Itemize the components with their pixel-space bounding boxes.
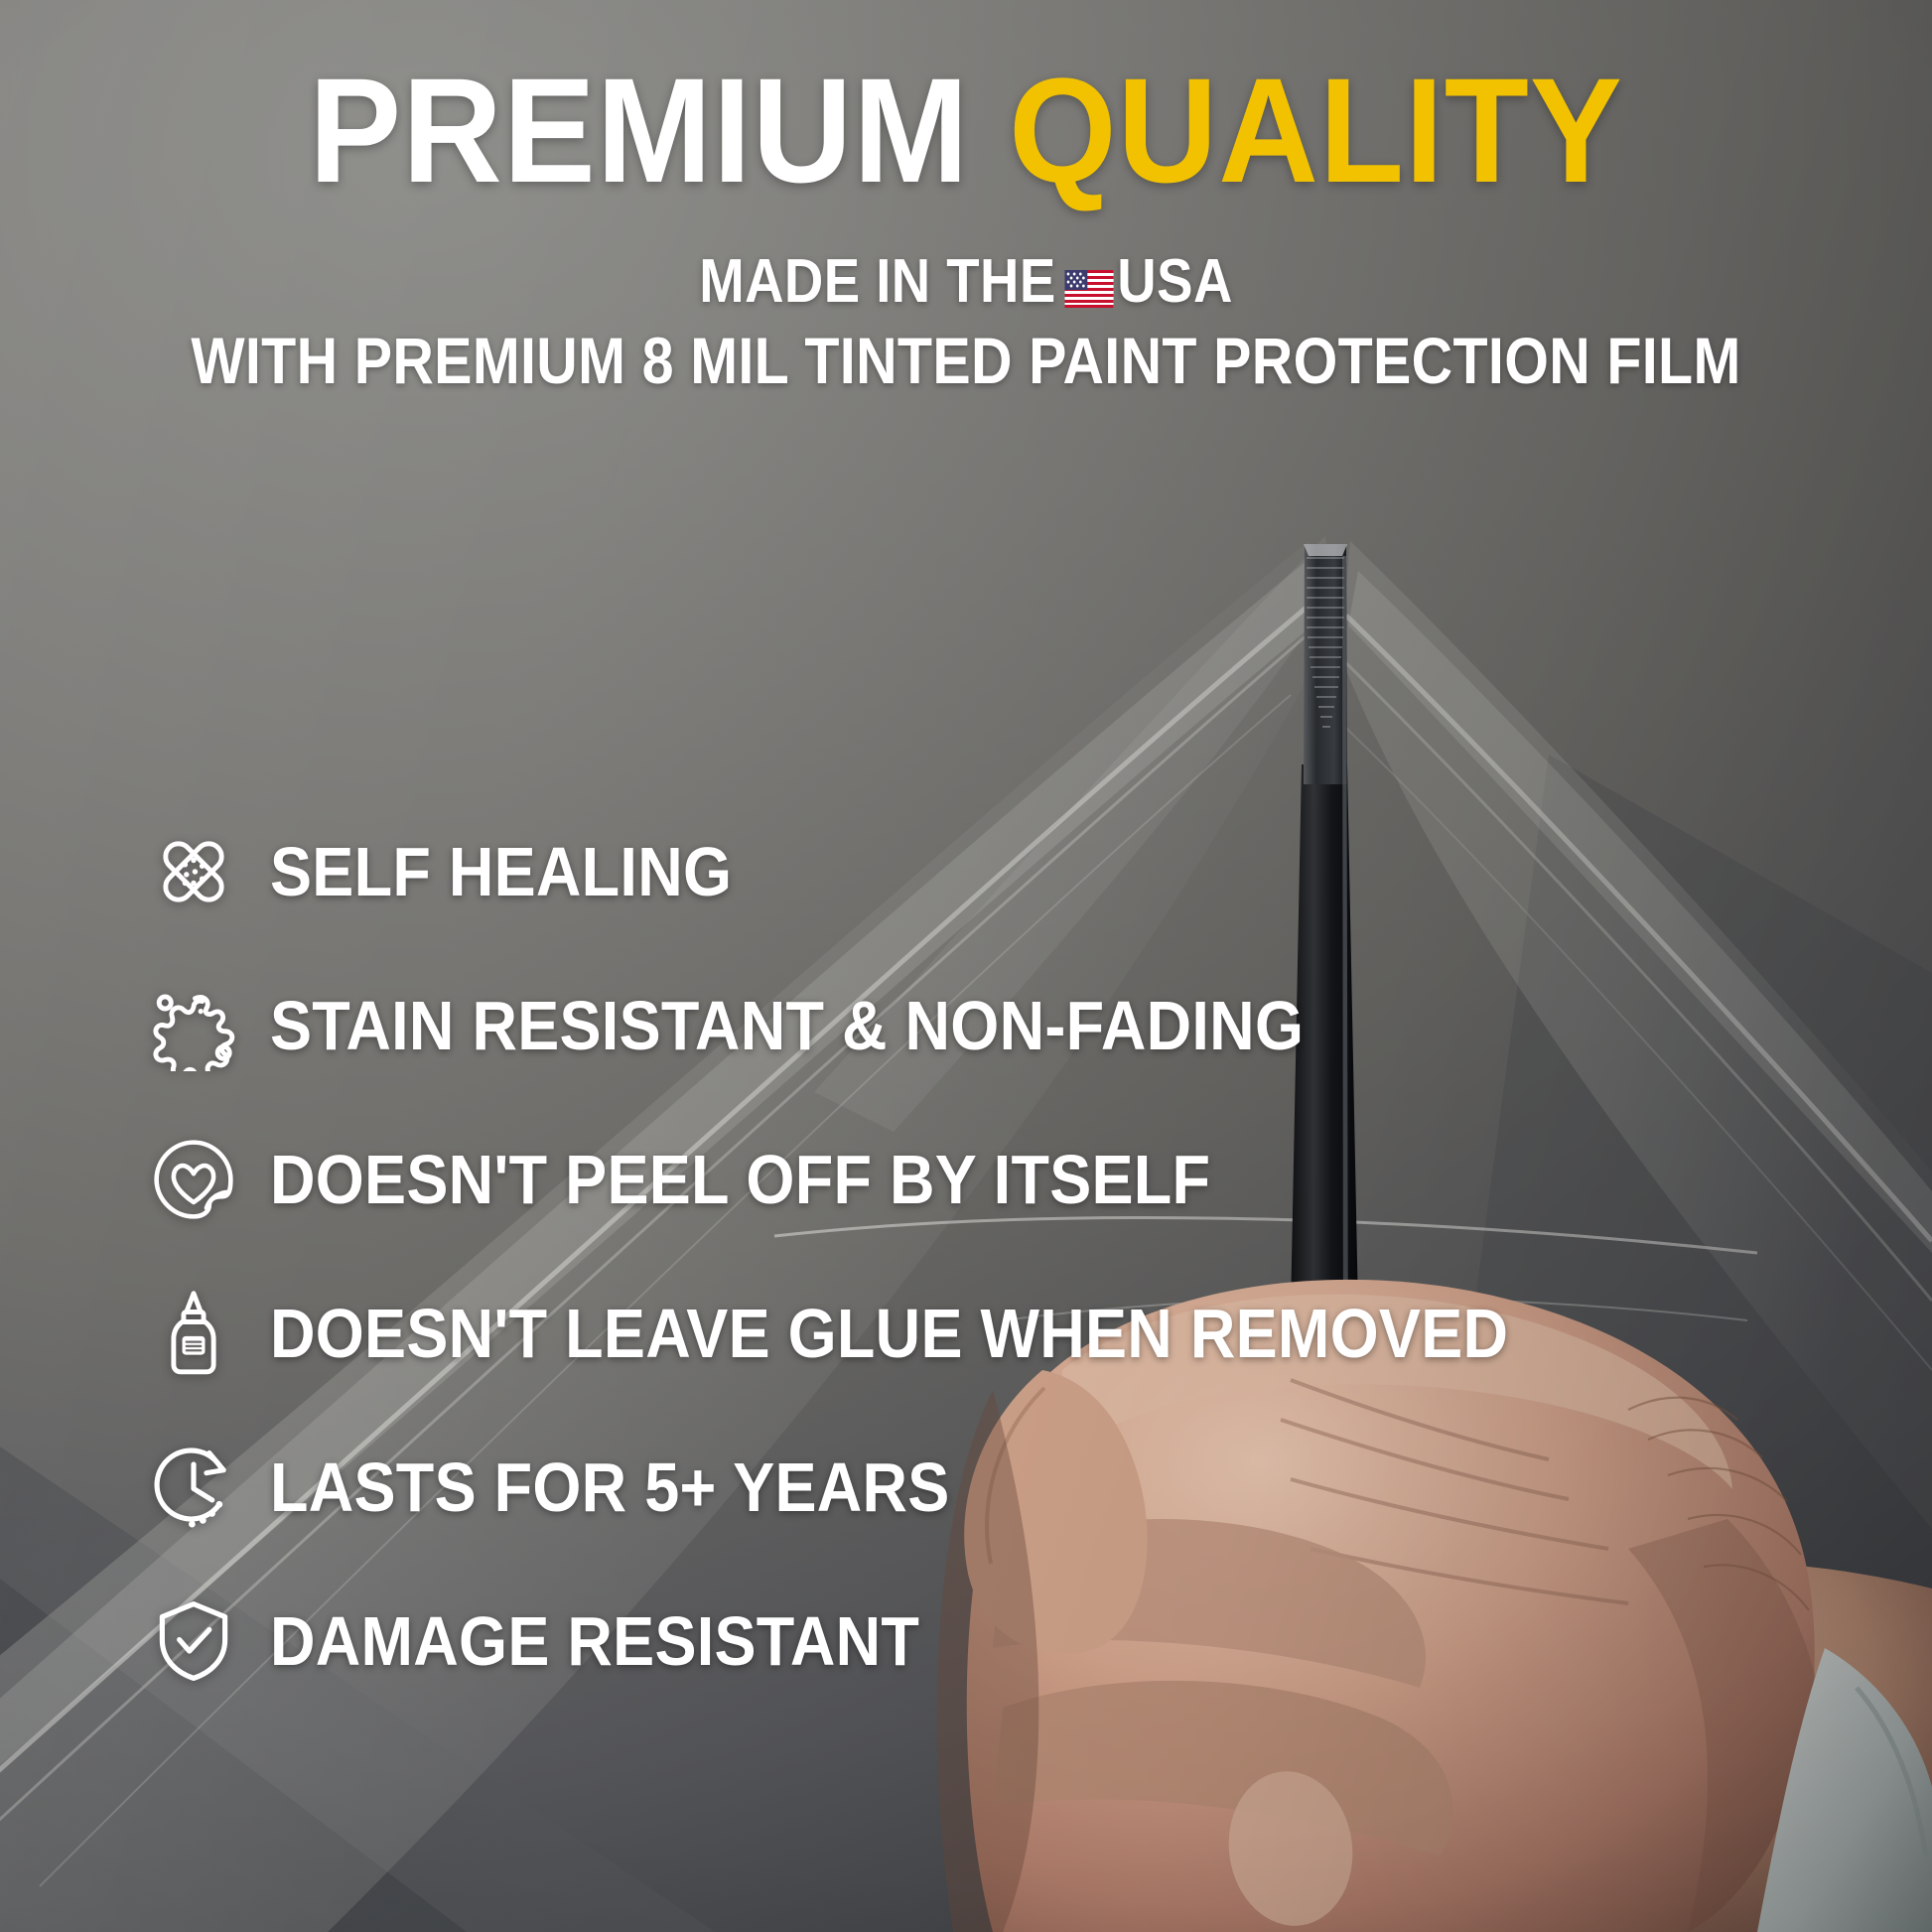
subtitle-film-spec: WITH PREMIUM 8 MIL TINTED PAINT PROTECTI… xyxy=(125,323,1806,398)
promo-graphic: PREMIUM QUALITY MADE IN THE xyxy=(0,0,1932,1932)
feature-label: DAMAGE RESISTANT xyxy=(270,1601,919,1681)
headline-word-premium: PREMIUM xyxy=(309,47,969,213)
us-flag-icon xyxy=(1064,252,1113,323)
feature-list: SELF HEALING STAIN RESISTANT & NON-FADIN… xyxy=(139,794,1767,1718)
feature-label: SELF HEALING xyxy=(270,832,732,911)
headline-word-quality: QUALITY xyxy=(1009,47,1623,213)
feature-item-damage-resistant: DAMAGE RESISTANT xyxy=(139,1564,1767,1718)
bandage-cross-icon xyxy=(139,822,248,921)
feature-item-self-healing: SELF HEALING xyxy=(139,794,1767,948)
feature-item-no-glue: DOESN'T LEAVE GLUE WHEN REMOVED xyxy=(139,1256,1767,1410)
stain-splatter-icon xyxy=(139,976,248,1075)
shield-check-icon xyxy=(139,1591,248,1691)
feature-label: LASTS FOR 5+ YEARS xyxy=(270,1448,950,1527)
feature-item-lasts-years: LASTS FOR 5+ YEARS xyxy=(139,1410,1767,1564)
feature-item-no-peel: DOESN'T PEEL OFF BY ITSELF xyxy=(139,1102,1767,1256)
subtitle-usa: USA xyxy=(1117,247,1233,316)
feature-item-stain-resistant: STAIN RESISTANT & NON-FADING xyxy=(139,948,1767,1102)
peeling-sticker-heart-icon xyxy=(139,1130,248,1229)
feature-label: STAIN RESISTANT & NON-FADING xyxy=(270,986,1304,1065)
feature-label: DOESN'T LEAVE GLUE WHEN REMOVED xyxy=(270,1294,1508,1373)
subtitle-made-in-usa: MADE IN THE USA xyxy=(116,246,1816,323)
subtitle-made-in-the: MADE IN THE xyxy=(699,247,1055,316)
feature-label: DOESN'T PEEL OFF BY ITSELF xyxy=(270,1140,1210,1219)
clock-rotate-icon xyxy=(139,1438,248,1537)
headline: PREMIUM QUALITY xyxy=(68,52,1864,209)
glue-bottle-icon xyxy=(139,1284,248,1383)
